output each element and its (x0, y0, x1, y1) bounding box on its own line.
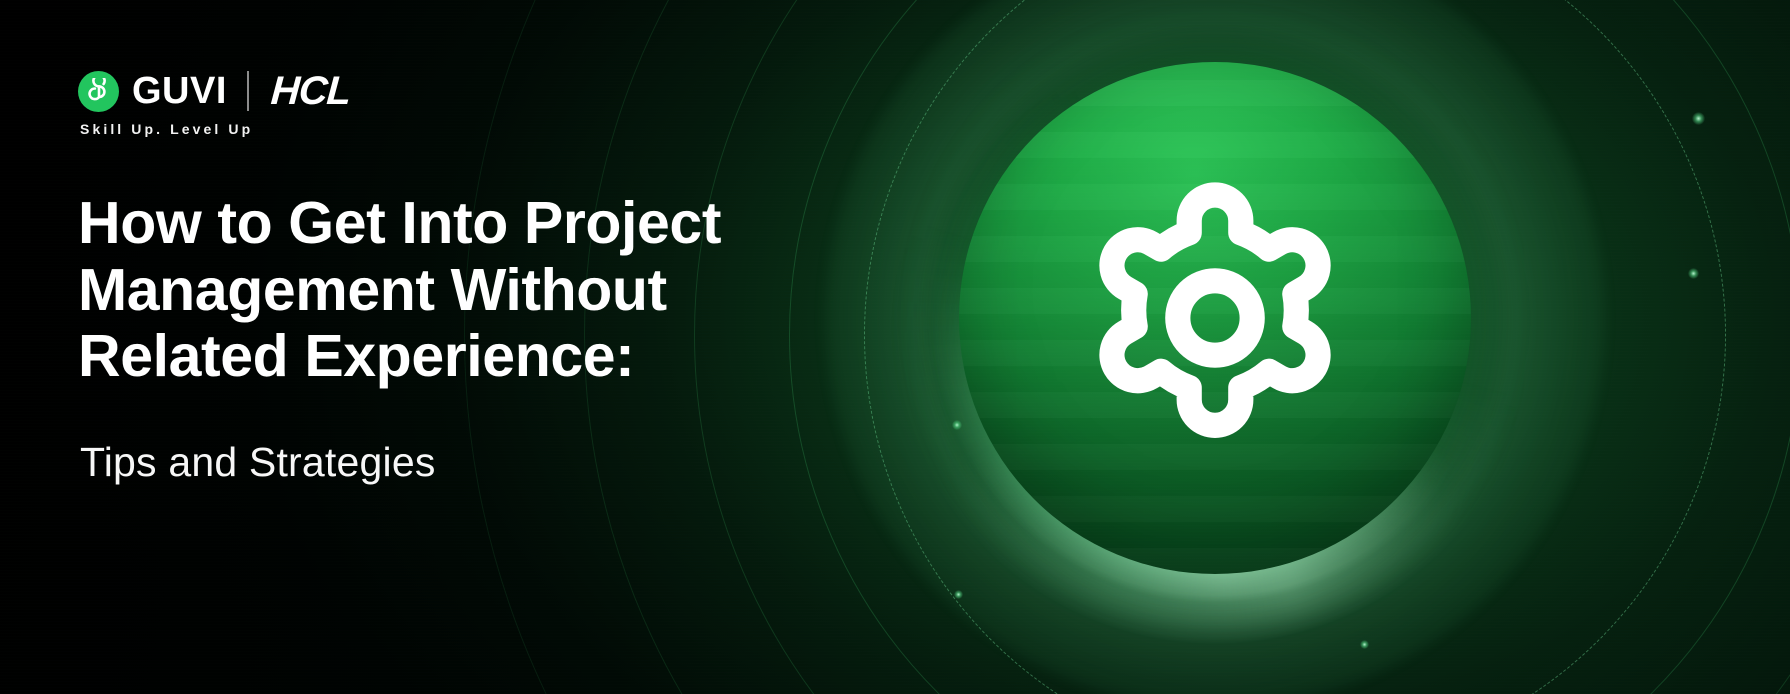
settings-gear-icon (1065, 168, 1365, 468)
logo-divider (247, 71, 249, 111)
hcl-wordmark: HCL (270, 71, 352, 111)
headline-line-2: Management Without (78, 257, 858, 324)
logo-row: GUVI HCL (78, 68, 350, 114)
page-subtitle: Tips and Strategies (80, 438, 436, 487)
brand-logo-lockup[interactable]: GUVI HCL Skill Up. Level Up (78, 68, 350, 137)
guvi-g-monogram-icon (78, 71, 119, 112)
brand-tagline: Skill Up. Level Up (78, 121, 350, 137)
headline-line-3: Related Experience: (78, 323, 858, 390)
page-title: How to Get Into Project Management Witho… (78, 190, 858, 390)
blog-hero-banner: GUVI HCL Skill Up. Level Up How to Get I… (0, 0, 1790, 694)
banner-content: GUVI HCL Skill Up. Level Up How to Get I… (78, 0, 878, 694)
guvi-wordmark: GUVI (132, 72, 227, 110)
headline-line-1: How to Get Into Project (78, 190, 858, 257)
